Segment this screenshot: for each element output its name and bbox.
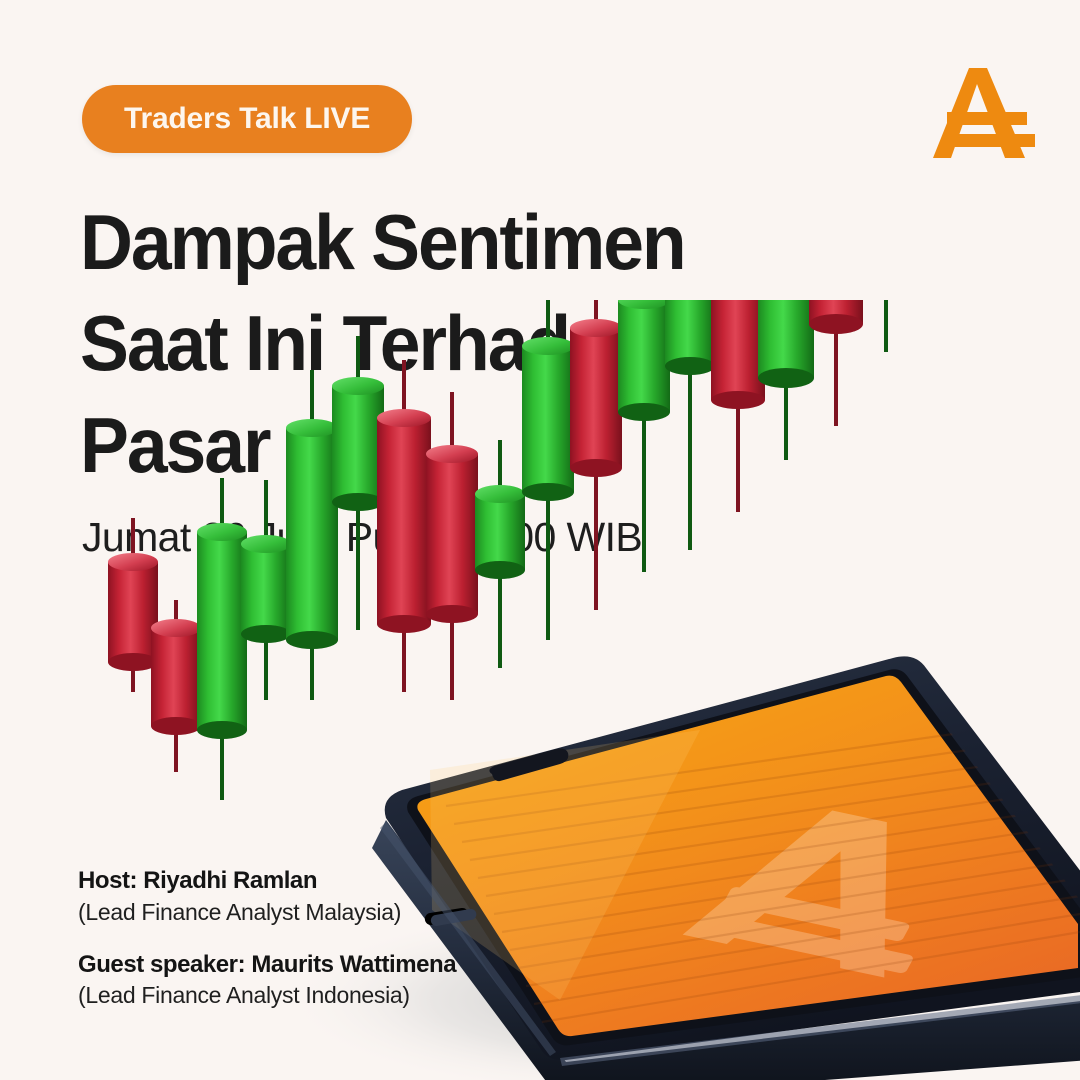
headline-line-1: Dampak Sentimen	[80, 192, 757, 293]
credit-host: Host: Riyadhi Ramlan (Lead Finance Analy…	[78, 866, 456, 928]
credit-host-name: Host: Riyadhi Ramlan	[78, 866, 456, 897]
credit-host-role: (Lead Finance Analyst Malaysia)	[78, 897, 456, 928]
credit-guest: Guest speaker: Maurits Wattimena (Lead F…	[78, 950, 456, 1012]
credit-guest-name: Guest speaker: Maurits Wattimena	[78, 950, 456, 981]
credits-block: Host: Riyadhi Ramlan (Lead Finance Analy…	[78, 866, 456, 1011]
badge-label: Traders Talk LIVE	[124, 102, 370, 136]
credit-guest-role: (Lead Finance Analyst Indonesia)	[78, 980, 456, 1011]
traders-talk-live-badge[interactable]: Traders Talk LIVE	[82, 85, 412, 153]
promo-canvas: Traders Talk LIVE Dampak Sentimen Saat I…	[0, 0, 1080, 1080]
octa-a-logo-icon	[925, 62, 1035, 167]
